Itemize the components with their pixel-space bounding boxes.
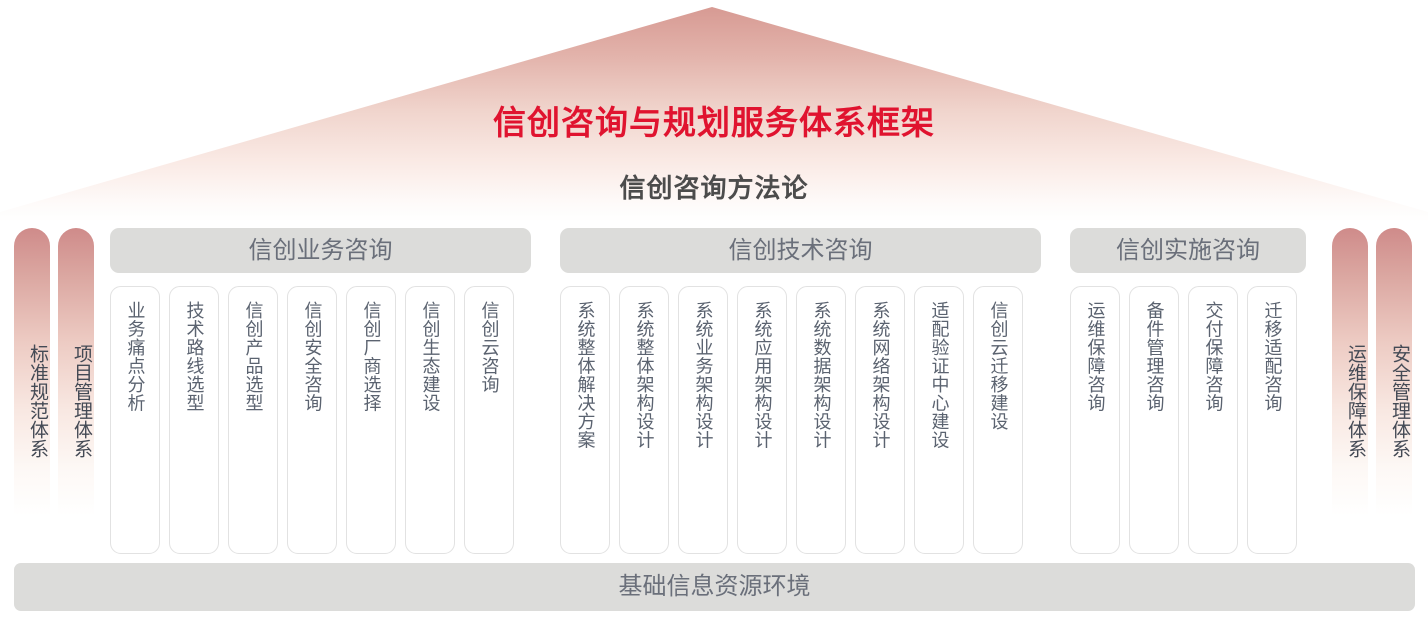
list-item[interactable]: 系统数据架构设计 (796, 286, 846, 554)
pillar-ops-guarantee-system[interactable]: 运维保障体系 (1332, 228, 1368, 528)
architecture-diagram: 信创咨询与规划服务体系框架 信创咨询方法论 标准规范体系 项目管理体系 运维保障… (0, 0, 1428, 627)
section-header[interactable]: 信创实施咨询 (1070, 228, 1306, 273)
list-item[interactable]: 系统整体解决方案 (560, 286, 610, 554)
section-items: 业务痛点分析 技术路线选型 信创产品选型 信创安全咨询 信创厂商选择 信创生态建… (110, 286, 514, 554)
section-business-consulting: 信创业务咨询 业务痛点分析 技术路线选型 信创产品选型 信创安全咨询 信创厂商选… (110, 228, 531, 273)
list-item[interactable]: 信创产品选型 (228, 286, 278, 554)
pillar-security-management-system[interactable]: 安全管理体系 (1376, 228, 1412, 528)
list-item[interactable]: 交付保障咨询 (1188, 286, 1238, 554)
list-item[interactable]: 系统整体架构设计 (619, 286, 669, 554)
list-item[interactable]: 信创生态建设 (405, 286, 455, 554)
item-label: 适配验证中心建设 (927, 301, 952, 449)
item-label: 交付保障咨询 (1201, 301, 1226, 412)
section-header[interactable]: 信创技术咨询 (560, 228, 1041, 273)
list-item[interactable]: 系统网络架构设计 (855, 286, 905, 554)
item-label: 备件管理咨询 (1142, 301, 1167, 412)
footer-base-label: 基础信息资源环境 (14, 563, 1415, 611)
section-items: 运维保障咨询 备件管理咨询 交付保障咨询 迁移适配咨询 (1070, 286, 1297, 554)
item-label: 信创云迁移建设 (986, 301, 1011, 431)
item-label: 技术路线选型 (182, 301, 207, 412)
item-label: 业务痛点分析 (123, 301, 148, 412)
item-label: 系统网络架构设计 (868, 301, 893, 449)
list-item[interactable]: 信创安全咨询 (287, 286, 337, 554)
section-header[interactable]: 信创业务咨询 (110, 228, 531, 273)
list-item[interactable]: 迁移适配咨询 (1247, 286, 1297, 554)
section-items: 系统整体解决方案 系统整体架构设计 系统业务架构设计 系统应用架构设计 系统数据… (560, 286, 1023, 554)
list-item[interactable]: 系统应用架构设计 (737, 286, 787, 554)
pillar-label: 标准规范体系 (14, 306, 50, 496)
list-item[interactable]: 系统业务架构设计 (678, 286, 728, 554)
pillar-project-management-system[interactable]: 项目管理体系 (58, 228, 94, 528)
item-label: 信创产品选型 (241, 301, 266, 412)
item-label: 信创安全咨询 (300, 301, 325, 412)
pillar-label: 项目管理体系 (58, 306, 94, 496)
list-item[interactable]: 信创云迁移建设 (973, 286, 1023, 554)
pillar-standard-spec-system[interactable]: 标准规范体系 (14, 228, 50, 528)
page-subtitle: 信创咨询方法论 (0, 168, 1428, 205)
section-technology-consulting: 信创技术咨询 系统整体解决方案 系统整体架构设计 系统业务架构设计 系统应用架构… (560, 228, 1041, 273)
list-item[interactable]: 备件管理咨询 (1129, 286, 1179, 554)
list-item[interactable]: 适配验证中心建设 (914, 286, 964, 554)
item-label: 信创厂商选择 (359, 301, 384, 412)
list-item[interactable]: 信创云咨询 (464, 286, 514, 554)
list-item[interactable]: 技术路线选型 (169, 286, 219, 554)
page-title: 信创咨询与规划服务体系框架 (0, 96, 1428, 144)
section-implementation-consulting: 信创实施咨询 运维保障咨询 备件管理咨询 交付保障咨询 迁移适配咨询 (1070, 228, 1306, 273)
item-label: 信创生态建设 (418, 301, 443, 412)
pillar-label: 运维保障体系 (1332, 306, 1368, 496)
list-item[interactable]: 信创厂商选择 (346, 286, 396, 554)
list-item[interactable]: 业务痛点分析 (110, 286, 160, 554)
item-label: 迁移适配咨询 (1260, 301, 1285, 412)
list-item[interactable]: 运维保障咨询 (1070, 286, 1120, 554)
item-label: 信创云咨询 (477, 301, 502, 394)
item-label: 系统整体架构设计 (632, 301, 657, 449)
pillar-label: 安全管理体系 (1376, 306, 1412, 496)
item-label: 系统业务架构设计 (691, 301, 716, 449)
item-label: 系统数据架构设计 (809, 301, 834, 449)
item-label: 运维保障咨询 (1083, 301, 1108, 412)
item-label: 系统整体解决方案 (573, 301, 598, 449)
item-label: 系统应用架构设计 (750, 301, 775, 449)
